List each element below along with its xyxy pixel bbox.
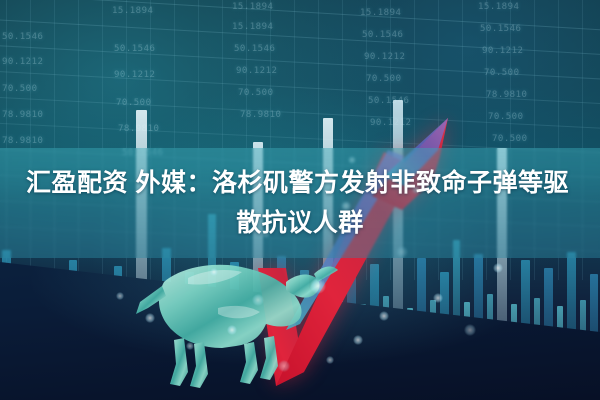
bokeh-dot bbox=[186, 342, 194, 350]
headline-line-2: 散抗议人群 bbox=[236, 204, 364, 242]
bokeh-dot bbox=[433, 293, 443, 303]
bokeh-dot bbox=[252, 294, 264, 306]
news-thumbnail-image: 15.189450.154650.154690.121215.189490.12… bbox=[0, 0, 600, 400]
bokeh-dot bbox=[116, 292, 124, 300]
bokeh-dot bbox=[379, 311, 389, 321]
bokeh-dot bbox=[227, 325, 237, 335]
bokeh-dot bbox=[353, 335, 363, 345]
bokeh-dot bbox=[278, 360, 290, 372]
bokeh-dot bbox=[326, 356, 334, 364]
bokeh-dot bbox=[464, 324, 476, 336]
bokeh-dot bbox=[145, 313, 155, 323]
headline-line-1: 汇盈配资 外媒：洛杉矶警方发射非致命子弹等驱 bbox=[26, 164, 569, 202]
bokeh-dot bbox=[210, 268, 218, 276]
headline-text: 汇盈配资 外媒：洛杉矶警方发射非致命子弹等驱 散抗议人群 bbox=[0, 148, 600, 258]
bokeh-dot bbox=[493, 263, 503, 273]
bokeh-dot bbox=[310, 278, 326, 294]
